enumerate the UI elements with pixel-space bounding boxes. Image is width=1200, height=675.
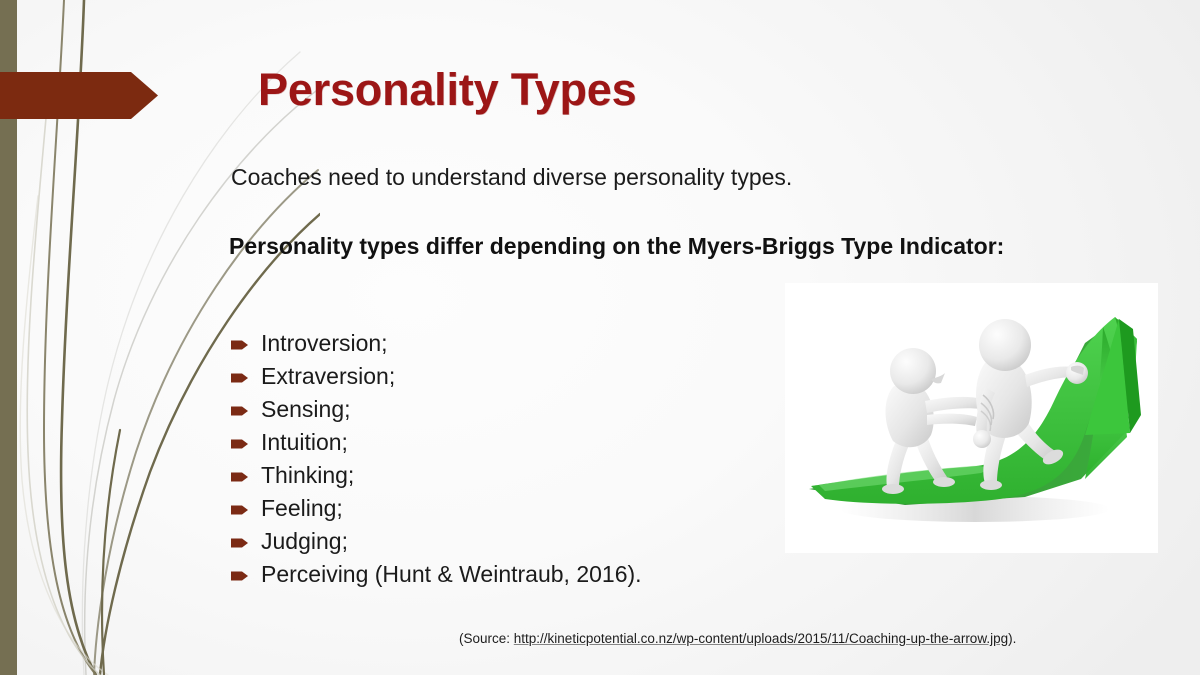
source-suffix: ). — [1008, 631, 1016, 646]
arrow-bullet-icon — [231, 339, 248, 351]
coaching-up-the-arrow-image — [785, 283, 1158, 553]
page-title: Personality Types — [258, 64, 636, 116]
list-item-label: Introversion; — [261, 332, 388, 355]
list-item: Perceiving (Hunt & Weintraub, 2016). — [231, 558, 931, 591]
arrow-bullet-icon — [231, 405, 248, 417]
slide-canvas: Personality Types Coaches need to unders… — [0, 0, 1200, 675]
list-item-label: Judging; — [261, 530, 348, 553]
source-url[interactable]: http://kineticpotential.co.nz/wp-content… — [514, 631, 1008, 646]
list-item-label: Extraversion; — [261, 365, 395, 388]
list-item-label: Sensing; — [261, 398, 351, 421]
intro-paragraph: Coaches need to understand diverse perso… — [231, 163, 951, 191]
subheading: Personality types differ depending on th… — [229, 230, 1049, 263]
list-item-label: Feeling; — [261, 497, 343, 520]
list-item-label: Thinking; — [261, 464, 354, 487]
right-arrow-banner — [0, 72, 158, 119]
source-prefix: (Source: — [459, 631, 514, 646]
source-citation: (Source: http://kineticpotential.co.nz/w… — [459, 631, 1016, 646]
arrow-bullet-icon — [231, 438, 248, 450]
arrow-bullet-icon — [231, 570, 248, 582]
arrow-bullet-icon — [231, 372, 248, 384]
arrow-bullet-icon — [231, 471, 248, 483]
arrow-bullet-icon — [231, 504, 248, 516]
arrow-bullet-icon — [231, 537, 248, 549]
list-item-label: Perceiving (Hunt & Weintraub, 2016). — [261, 563, 642, 586]
list-item-label: Intuition; — [261, 431, 348, 454]
